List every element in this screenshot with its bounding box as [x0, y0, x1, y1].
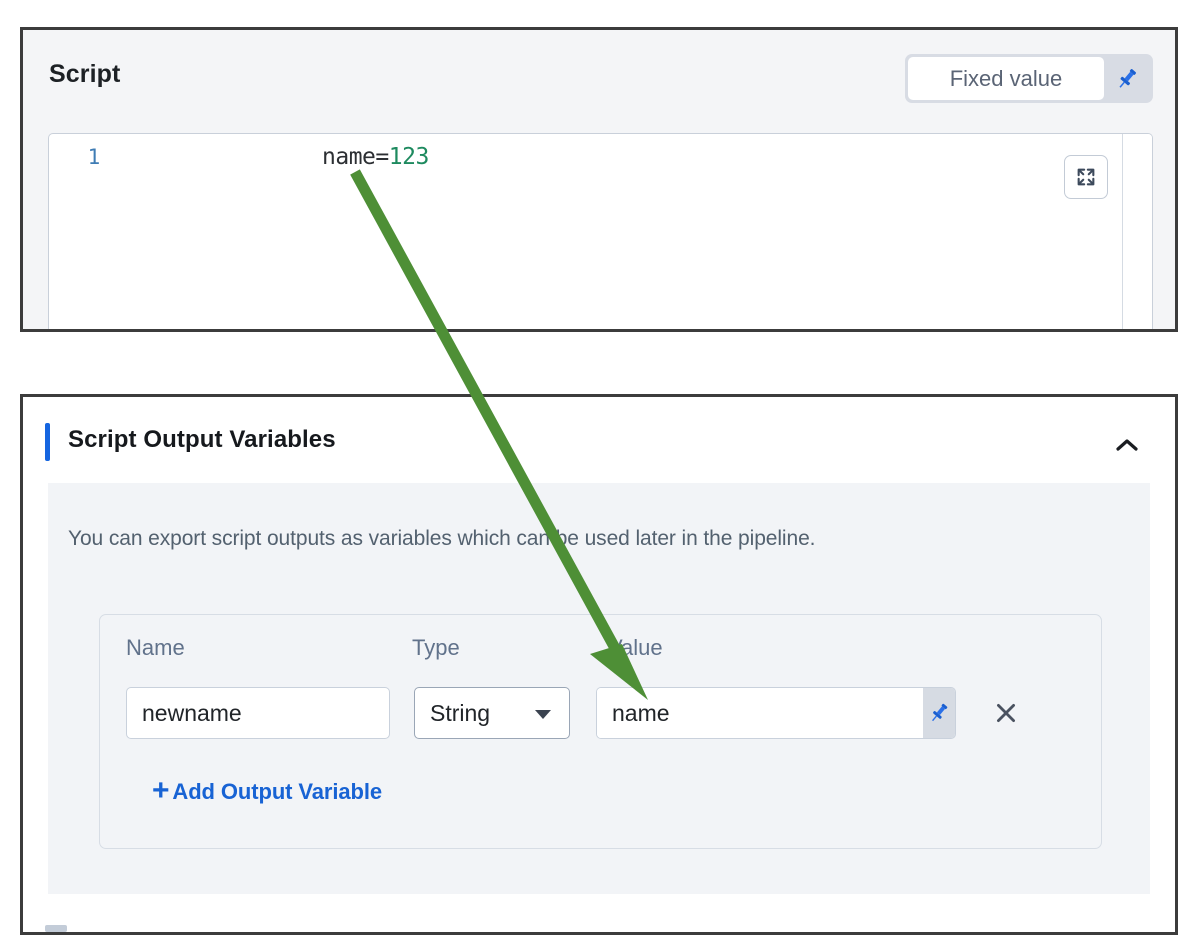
table-row: String: [126, 687, 1081, 739]
output-variables-header[interactable]: Script Output Variables: [23, 397, 1175, 483]
column-headers: Name Type Value: [100, 635, 1101, 667]
page-title: Script: [49, 60, 120, 89]
screenshot-root: Script Fixed value 1: [0, 0, 1198, 950]
script-output-variables-panel: Script Output Variables You can export s…: [20, 394, 1178, 935]
add-output-variable-button[interactable]: + Add Output Variable: [152, 778, 382, 806]
fullscreen-expand-icon[interactable]: [1064, 155, 1108, 199]
pushpin-icon[interactable]: [923, 688, 955, 738]
script-editor[interactable]: 1 name=123: [48, 133, 1153, 329]
section-description: You can export script outputs as variabl…: [68, 527, 815, 551]
editor-scrollbar[interactable]: [1122, 134, 1152, 329]
output-variables-body: You can export script outputs as variabl…: [48, 483, 1150, 894]
fixed-value-button[interactable]: Fixed value: [908, 57, 1104, 100]
variables-card: Name Type Value String: [99, 614, 1102, 849]
variable-value-group: [596, 687, 956, 739]
column-header-type: Type: [412, 635, 460, 661]
chevron-down-icon: [535, 710, 551, 719]
script-panel-header: Script Fixed value: [23, 30, 1175, 116]
plus-icon: +: [152, 776, 169, 806]
code-token-number: 123: [389, 144, 429, 170]
section-title: Script Output Variables: [68, 426, 336, 454]
pushpin-icon[interactable]: [1104, 57, 1150, 100]
chevron-up-icon[interactable]: [1109, 429, 1145, 461]
line-number: 1: [49, 145, 139, 169]
close-icon[interactable]: [986, 693, 1026, 733]
script-panel: Script Fixed value 1: [20, 27, 1178, 332]
code-content[interactable]: name=123: [322, 144, 429, 170]
variable-value-input[interactable]: [597, 688, 923, 738]
column-header-value: Value: [608, 635, 663, 661]
add-output-variable-label: Add Output Variable: [172, 779, 382, 805]
column-header-name: Name: [126, 635, 185, 661]
variable-name-input[interactable]: [126, 687, 390, 739]
code-token-assignment: name=: [322, 144, 389, 170]
value-mode-toggle-group: Fixed value: [905, 54, 1153, 103]
section-accent-bar: [45, 423, 50, 461]
variable-type-select[interactable]: String: [414, 687, 570, 739]
truncated-element-below: [45, 925, 67, 932]
variable-type-value: String: [415, 700, 490, 727]
code-line: 1 name=123: [49, 134, 1152, 180]
